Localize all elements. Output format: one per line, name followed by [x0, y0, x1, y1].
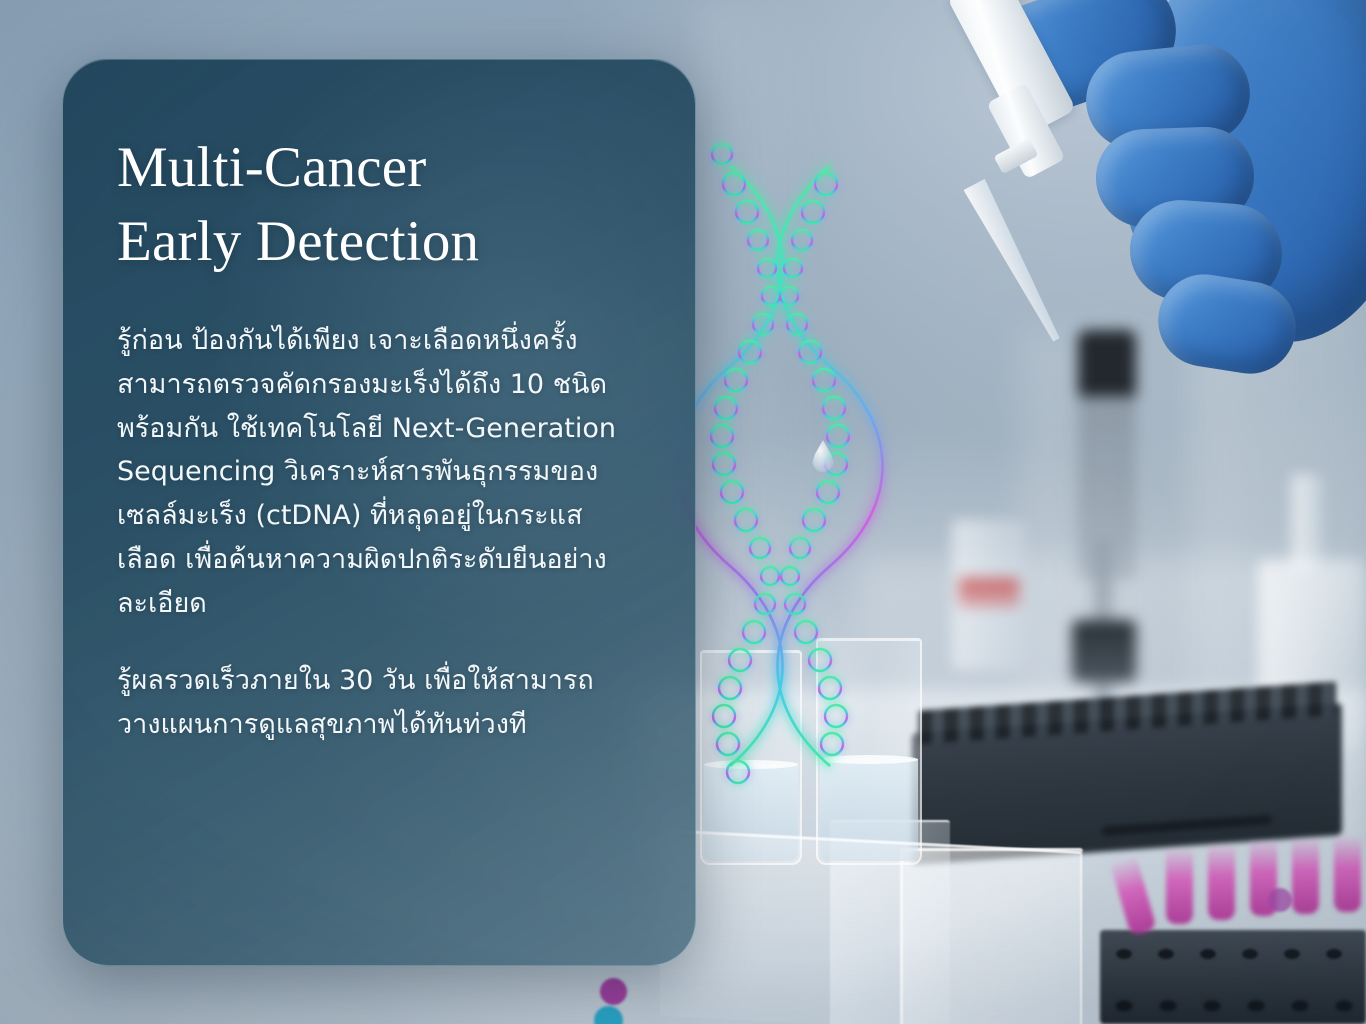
colored-dot-magenta [600, 978, 627, 1005]
card-content: Multi-Cancer Early Detection รู้ก่อน ป้อ… [63, 59, 695, 747]
sample-tube [1292, 838, 1319, 914]
glass-shelf [660, 829, 1082, 1024]
rack-holes-row [1108, 938, 1366, 972]
sample-tube [1166, 848, 1193, 924]
page-title: Multi-Cancer Early Detection [117, 131, 639, 279]
micropipette [900, 0, 1260, 450]
sample-tube [1208, 844, 1235, 920]
background-beaker-red-liquid [952, 520, 1026, 670]
body-paragraph-2: รู้ผลรวดเร็วภายใน 30 วัน เพื่อให้สามารถว… [117, 659, 639, 746]
lab-stand-head [1072, 620, 1136, 682]
body-paragraph-1: รู้ก่อน ป้องกันได้เพียง เจาะเลือดหนึ่งคร… [117, 319, 639, 625]
rack-holes-row [1100, 990, 1366, 1024]
sample-tube [1334, 836, 1361, 912]
colored-dot-magenta [1268, 888, 1292, 912]
glass-info-card: Multi-Cancer Early Detection รู้ก่อน ป้อ… [62, 58, 696, 966]
dna-double-helix [692, 160, 872, 780]
poster-canvas: Multi-Cancer Early Detection รู้ก่อน ป้อ… [0, 0, 1366, 1024]
pipette-tip [932, 160, 1109, 375]
